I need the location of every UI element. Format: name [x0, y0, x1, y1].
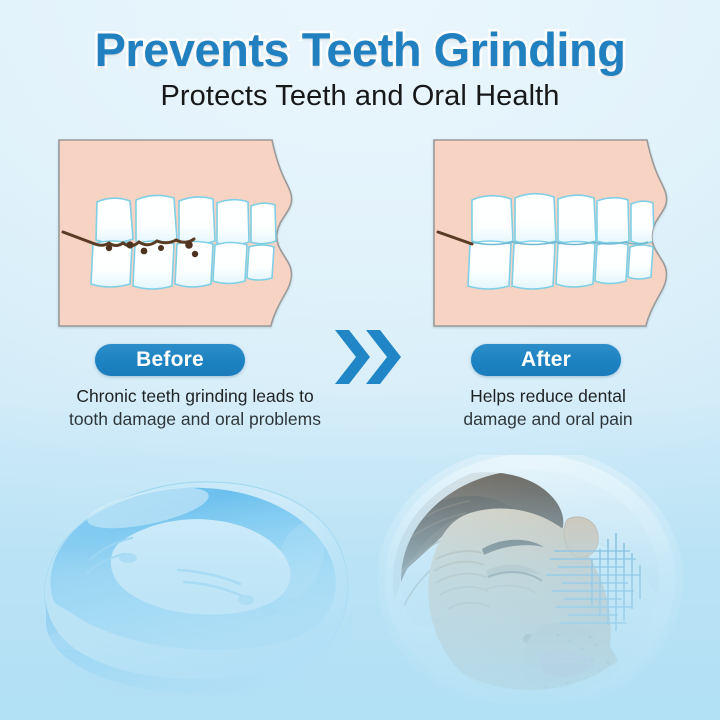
before-after-comparison — [0, 138, 720, 334]
page-title: Prevents Teeth Grinding — [0, 22, 720, 77]
sleeping-man-photo — [378, 455, 683, 705]
after-illustration-panel — [432, 138, 682, 328]
page-subtitle: Protects Teeth and Oral Health — [0, 80, 720, 113]
product-marketing-image: Prevents Teeth Grinding Protects Teeth a… — [0, 0, 720, 720]
status-badge-before: Before — [95, 344, 245, 376]
caption-before-line2: tooth damage and oral problems — [25, 408, 365, 431]
caption-after: Helps reduce dental damage and oral pain — [378, 385, 718, 431]
status-badge-after: After — [471, 344, 621, 376]
caption-after-line1: Helps reduce dental — [378, 385, 718, 408]
caption-before: Chronic teeth grinding leads to tooth da… — [25, 385, 365, 431]
upper-teeth-row — [472, 194, 654, 244]
lower-teeth-row — [468, 241, 653, 289]
double-chevron-right-icon — [333, 324, 403, 390]
caption-before-line1: Chronic teeth grinding leads to — [25, 385, 365, 408]
caption-after-line2: damage and oral pain — [378, 408, 718, 431]
before-illustration-panel — [57, 138, 307, 328]
mouthguard-product-photo — [8, 452, 360, 704]
